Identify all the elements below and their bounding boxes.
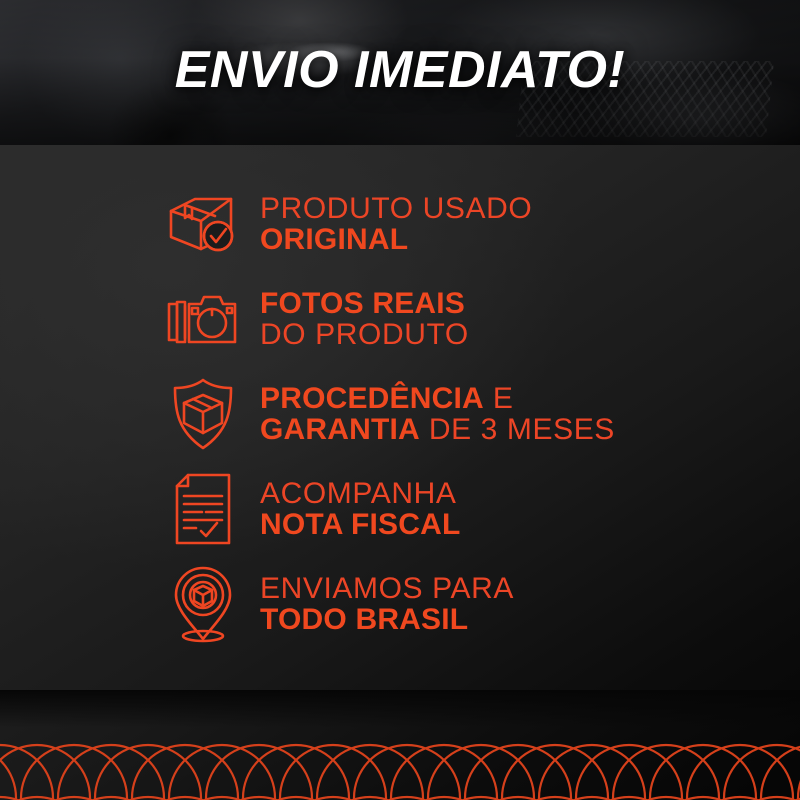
features-list: PRODUTO USADO ORIGINAL xyxy=(160,185,780,660)
feature-item-procedencia-garantia: PROCEDÊNCIA E GARANTIA DE 3 MESES xyxy=(160,375,780,453)
box-check-icon xyxy=(160,191,246,257)
feature-item-todo-brasil: ENVIAMOS PARA TODO BRASIL xyxy=(160,565,780,643)
feature-line-1: ENVIAMOS PARA xyxy=(260,573,514,604)
feature-item-fotos-reais: FOTOS REAIS DO PRODUTO xyxy=(160,280,780,358)
feature-line-2: NOTA FISCAL xyxy=(260,509,461,540)
feature-line-1: ACOMPANHA xyxy=(260,478,461,509)
page-title: ENVIO IMEDIATO! xyxy=(0,44,800,96)
features-section: PRODUTO USADO ORIGINAL xyxy=(0,145,800,800)
feature-text: PRODUTO USADO ORIGINAL xyxy=(260,193,532,255)
map-pin-box-icon xyxy=(160,565,246,643)
feature-item-nota-fiscal: ACOMPANHA NOTA FISCAL xyxy=(160,470,780,548)
feature-text: FOTOS REAIS DO PRODUTO xyxy=(260,288,469,350)
feature-line-2: DO PRODUTO xyxy=(260,319,469,350)
geometric-circle-lattice xyxy=(0,690,800,800)
invoice-check-icon xyxy=(160,472,246,546)
feature-text: PROCEDÊNCIA E GARANTIA DE 3 MESES xyxy=(260,383,615,445)
feature-text: ENVIAMOS PARA TODO BRASIL xyxy=(260,573,514,635)
promo-banner: ENVIO IMEDIATO! xyxy=(0,0,800,800)
feature-line-1: FOTOS REAIS xyxy=(260,288,469,319)
feature-line-1: PRODUTO USADO xyxy=(260,193,532,224)
feature-line-2: ORIGINAL xyxy=(260,224,532,255)
banner-header: ENVIO IMEDIATO! xyxy=(0,0,800,145)
feature-text: ACOMPANHA NOTA FISCAL xyxy=(260,478,461,540)
shield-box-icon xyxy=(160,377,246,451)
feature-line-2: GARANTIA DE 3 MESES xyxy=(260,414,615,445)
feature-line-1: PROCEDÊNCIA E xyxy=(260,383,615,414)
camera-icon xyxy=(160,288,246,350)
feature-line-2: TODO BRASIL xyxy=(260,604,514,635)
feature-item-produto-original: PRODUTO USADO ORIGINAL xyxy=(160,185,780,263)
